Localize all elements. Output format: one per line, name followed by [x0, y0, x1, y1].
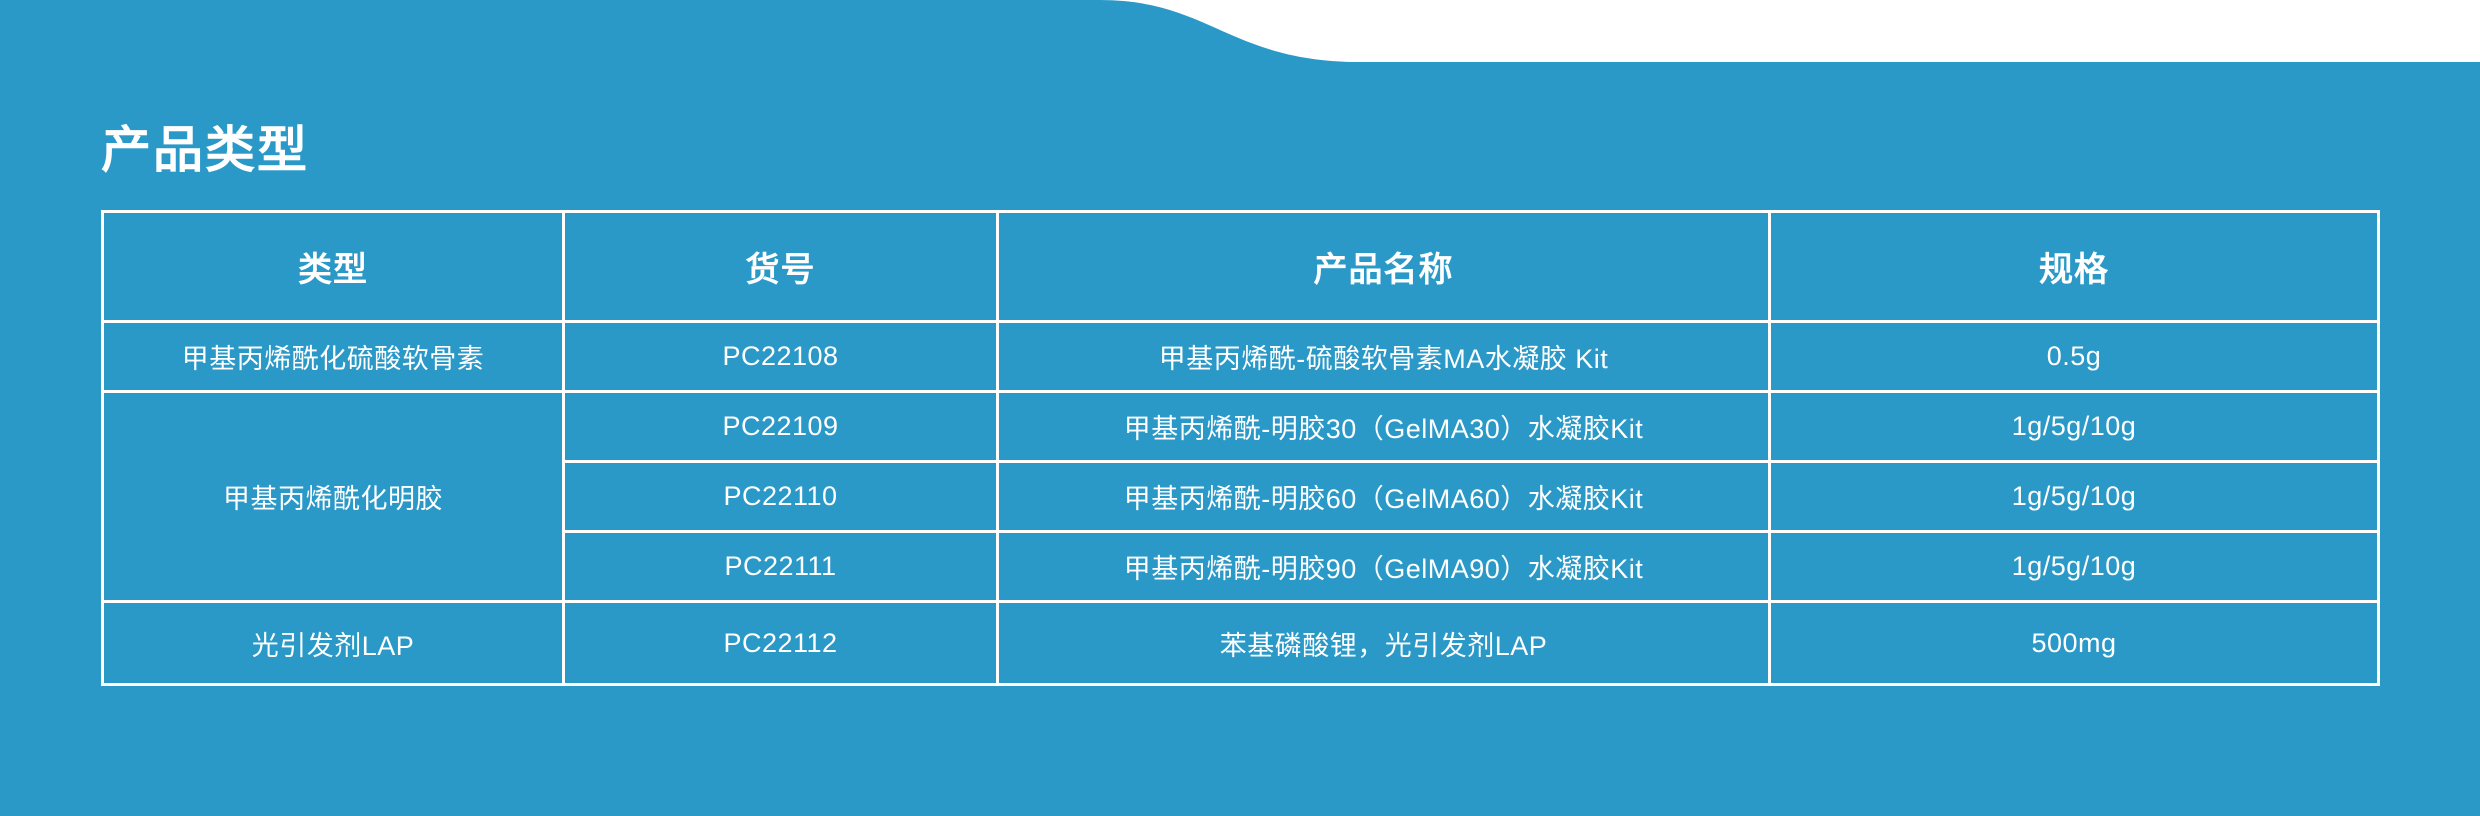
cell-product-name: 甲基丙烯酰-明胶90（GelMA90）水凝胶Kit: [998, 532, 1770, 602]
cell-product-name: 甲基丙烯酰-明胶60（GelMA60）水凝胶Kit: [998, 462, 1770, 532]
column-header-product-name: 产品名称: [998, 212, 1770, 322]
cell-type: 光引发剂LAP: [103, 602, 564, 685]
table-header: 类型 货号 产品名称 规格: [103, 212, 2379, 322]
column-header-specification: 规格: [1770, 212, 2379, 322]
cell-specification: 1g/5g/10g: [1770, 532, 2379, 602]
cell-catalog-no: PC22111: [564, 532, 998, 602]
column-header-type: 类型: [103, 212, 564, 322]
table-row: 甲基丙烯酰化硫酸软骨素 PC22108 甲基丙烯酰-硫酸软骨素MA水凝胶 Kit…: [103, 322, 2379, 392]
table-row: 甲基丙烯酰化明胶 PC22109 甲基丙烯酰-明胶30（GelMA30）水凝胶K…: [103, 392, 2379, 462]
cell-type: 甲基丙烯酰化明胶: [103, 392, 564, 602]
cell-specification: 1g/5g/10g: [1770, 462, 2379, 532]
table-body: 甲基丙烯酰化硫酸软骨素 PC22108 甲基丙烯酰-硫酸软骨素MA水凝胶 Kit…: [103, 322, 2379, 685]
decorative-wave-shape: [1060, 0, 2480, 72]
cell-catalog-no: PC22110: [564, 462, 998, 532]
cell-specification: 1g/5g/10g: [1770, 392, 2379, 462]
table-row: 光引发剂LAP PC22112 苯基磷酸锂，光引发剂LAP 500mg: [103, 602, 2379, 685]
cell-product-name: 甲基丙烯酰-硫酸软骨素MA水凝胶 Kit: [998, 322, 1770, 392]
cell-specification: 500mg: [1770, 602, 2379, 685]
product-type-page: 产品类型 类型 货号 产品名称 规格 甲基丙烯酰化硫酸软骨素 PC22108 甲…: [0, 0, 2480, 816]
cell-product-name: 苯基磷酸锂，光引发剂LAP: [998, 602, 1770, 685]
table-header-row: 类型 货号 产品名称 规格: [103, 212, 2379, 322]
column-header-catalog-no: 货号: [564, 212, 998, 322]
cell-product-name: 甲基丙烯酰-明胶30（GelMA30）水凝胶Kit: [998, 392, 1770, 462]
cell-type: 甲基丙烯酰化硫酸软骨素: [103, 322, 564, 392]
cell-catalog-no: PC22109: [564, 392, 998, 462]
cell-specification: 0.5g: [1770, 322, 2379, 392]
cell-catalog-no: PC22108: [564, 322, 998, 392]
cell-catalog-no: PC22112: [564, 602, 998, 685]
page-title: 产品类型: [101, 120, 309, 180]
product-type-table: 类型 货号 产品名称 规格 甲基丙烯酰化硫酸软骨素 PC22108 甲基丙烯酰-…: [101, 210, 2380, 686]
